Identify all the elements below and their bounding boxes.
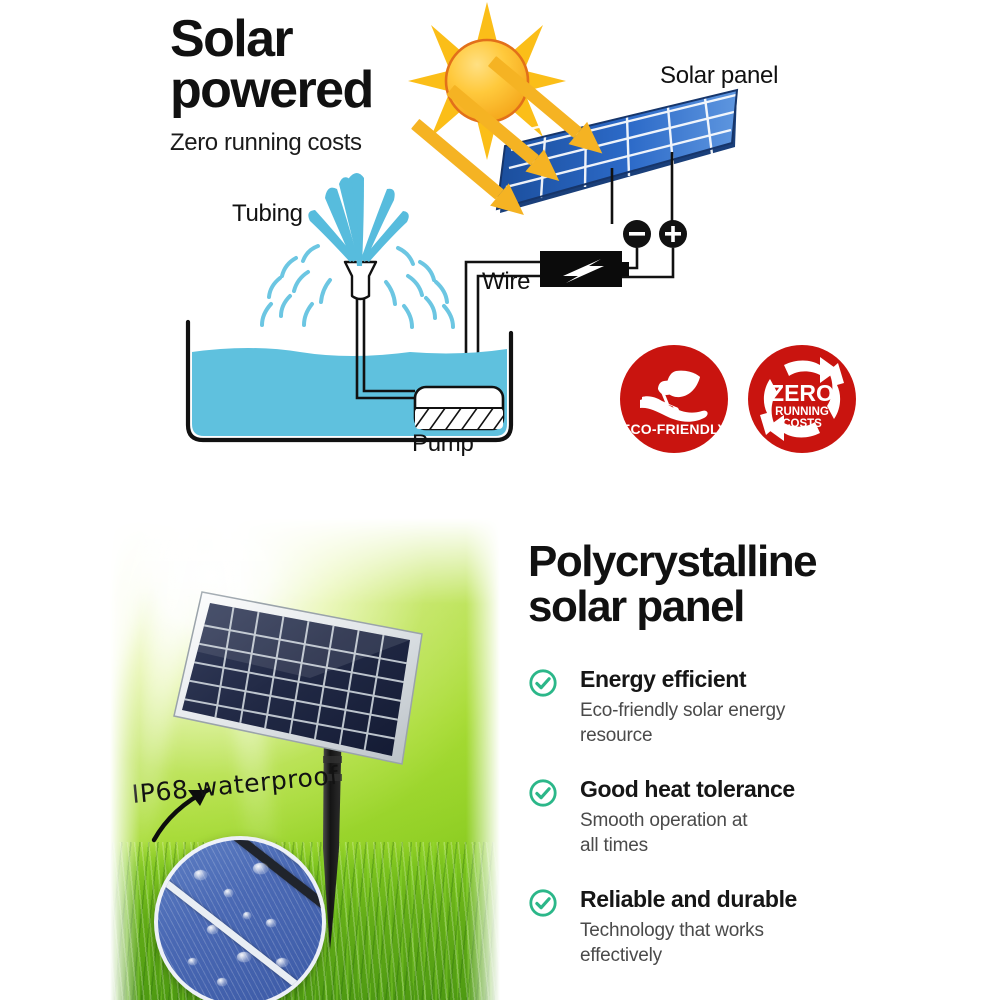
product-photo-section: IP68 waterproof Polycrystalline so (0, 500, 1000, 1000)
water-drop (243, 912, 251, 919)
check-circle-icon (528, 668, 558, 698)
water-drop (224, 889, 233, 897)
water-drop (217, 978, 227, 986)
check-circle-icon (528, 888, 558, 918)
water-drop (207, 925, 218, 934)
badge-eco-friendly: ECO-FRIENDLY (620, 345, 728, 453)
badge-zero-line2: RUNNING (775, 406, 829, 418)
features-panel: Polycrystalline solar panel Energy effic… (528, 540, 948, 996)
label-solar-panel: Solar panel (660, 62, 778, 90)
feature-item: Reliable and durable Technology that wor… (528, 886, 948, 968)
feature-item: Good heat tolerance Smooth operation at … (528, 776, 948, 858)
label-pump: Pump (412, 430, 474, 458)
product-title-line-2: solar panel (528, 585, 948, 630)
badge-eco-label: ECO-FRIENDLY (620, 421, 728, 437)
badge-zero-line1: ZERO (770, 380, 834, 406)
water-drop (266, 919, 276, 927)
solar-powered-diagram-section: Solar powered Zero running costs (0, 0, 1000, 500)
feature-list: Energy efficient Eco-friendly solar ener… (528, 666, 948, 968)
water-drop (237, 952, 251, 962)
feature-title: Energy efficient (580, 666, 948, 692)
water-drop (253, 863, 268, 874)
feature-description: Eco-friendly solar energy resource (580, 699, 948, 748)
label-tubing: Tubing (232, 200, 303, 228)
fountain-nozzle-icon (345, 262, 376, 299)
feature-desc-line-2: effectively (580, 945, 662, 966)
badge-zero-running-costs: ZERO RUNNING COSTS (748, 345, 856, 453)
badge-zero-line3: COSTS (782, 418, 822, 430)
feature-desc-line-1: Eco-friendly solar energy (580, 700, 785, 721)
feature-desc-line-2: resource (580, 725, 652, 746)
feature-badges: ECO-FRIENDLY ZERO RUNNING COSTS (620, 345, 860, 455)
infographic-page: Solar powered Zero running costs (0, 0, 1000, 1000)
product-title-line-1: Polycrystalline (528, 537, 816, 586)
feature-title: Reliable and durable (580, 886, 948, 912)
feature-title: Good heat tolerance (580, 776, 948, 802)
waterproof-closeup-inset (154, 836, 326, 1000)
feature-desc-line-2: all times (580, 835, 648, 856)
solar-panel-photo: IP68 waterproof (110, 518, 500, 1000)
pump-graphic (412, 387, 512, 432)
product-title: Polycrystalline solar panel (528, 540, 948, 630)
connector-box-icon (540, 251, 629, 287)
water-drop (194, 870, 207, 880)
feature-desc-line-1: Technology that works (580, 920, 764, 941)
label-wire: Wire (482, 268, 530, 296)
feature-desc-line-1: Smooth operation at (580, 810, 747, 831)
water-drop (276, 958, 288, 967)
feature-description: Smooth operation at all times (580, 809, 948, 858)
feature-item: Energy efficient Eco-friendly solar ener… (528, 666, 948, 748)
recycle-arrows-icon: ZERO RUNNING COSTS (748, 345, 856, 453)
water-drop (188, 958, 197, 965)
feature-description: Technology that works effectively (580, 919, 948, 968)
check-circle-icon (528, 778, 558, 808)
